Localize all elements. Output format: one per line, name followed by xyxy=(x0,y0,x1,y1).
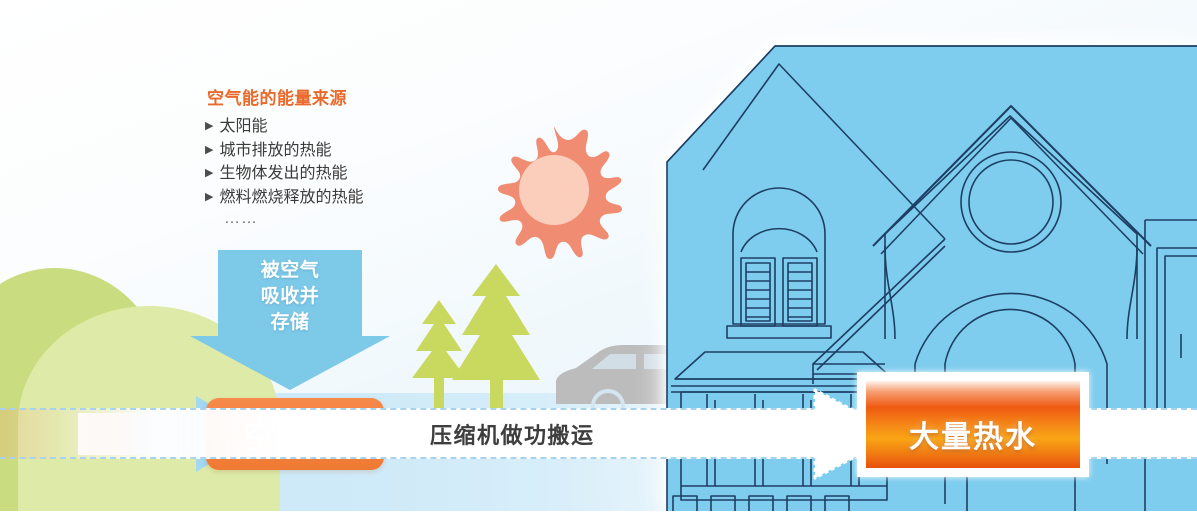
bottom-strip xyxy=(0,511,1197,521)
hot-water-gradient: 大量热水 xyxy=(866,381,1080,468)
hot-water-label: 大量热水 xyxy=(909,412,1037,456)
triangle-right-icon: ▶ xyxy=(205,163,213,184)
compressor-transfer-text: 压缩机做功搬运 xyxy=(430,418,595,450)
infographic-canvas: 空气能的能量来源 ▶ 太阳能 ▶ 城市排放的热能 ▶ 生物体发出的热能 ▶ 燃料… xyxy=(0,0,1197,521)
list-item-label: 燃料燃烧释放的热能 xyxy=(219,187,363,210)
list-item: ▶ 太阳能 xyxy=(205,116,535,139)
energy-source-text-block: 空气能的能量来源 ▶ 太阳能 ▶ 城市排放的热能 ▶ 生物体发出的热能 ▶ 燃料… xyxy=(205,84,535,228)
triangle-right-icon: ▶ xyxy=(205,140,213,161)
list-ellipsis: …… xyxy=(224,211,535,228)
list-item-label: 生物体发出的热能 xyxy=(219,163,347,186)
energy-source-heading: 空气能的能量来源 xyxy=(207,84,535,109)
list-item: ▶ 城市排放的热能 xyxy=(205,140,535,163)
list-item: ▶ 燃料燃烧释放的热能 xyxy=(205,187,535,210)
triangle-right-icon: ▶ xyxy=(205,116,213,137)
list-item-label: 城市排放的热能 xyxy=(219,140,331,163)
arrow-down-icon xyxy=(190,250,390,390)
triangle-right-icon: ▶ xyxy=(205,187,213,208)
list-item: ▶ 生物体发出的热能 xyxy=(205,163,535,186)
list-item-label: 太阳能 xyxy=(219,116,267,139)
hot-water-box: 大量热水 xyxy=(857,372,1089,477)
energy-source-list: ▶ 太阳能 ▶ 城市排放的热能 ▶ 生物体发出的热能 ▶ 燃料燃烧释放的热能 xyxy=(205,116,535,210)
